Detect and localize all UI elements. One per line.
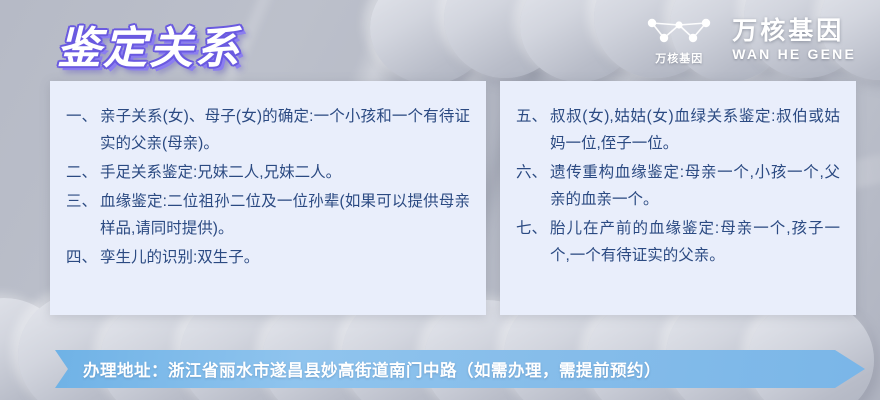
list-item: 六、 遗传重构血缘鉴定:母亲一个,小孩一个,父亲的血亲一个。 — [516, 159, 840, 213]
brand-mark: 万核基因 — [644, 14, 714, 66]
list-item-text: 胎儿在产前的血缘鉴定:母亲一个,孩子一个,一个有待证实的父亲。 — [550, 215, 840, 269]
list-item-text: 孪生儿的识别:双生子。 — [100, 244, 470, 271]
list-item-text: 叔叔(女),姑姑(女)血绿关系鉴定:叔伯或姑妈一位,侄子一位。 — [550, 103, 840, 157]
brand-wordmark: 万核基因 WAN HE GENE — [732, 18, 856, 61]
list-item-number: 六、 — [516, 159, 550, 186]
list-item-number: 一、 — [66, 103, 100, 130]
molecule-network-icon — [644, 14, 714, 48]
brand-mark-label: 万核基因 — [655, 50, 703, 66]
list-item: 一、 亲子关系(女)、母子(女)的确定:一个小孩和一个有待证实的父亲(母亲)。 — [66, 103, 470, 157]
list-item: 五、 叔叔(女),姑姑(女)血绿关系鉴定:叔伯或姑妈一位,侄子一位。 — [516, 103, 840, 157]
list-item-number: 二、 — [66, 159, 100, 186]
list-item-text: 遗传重构血缘鉴定:母亲一个,小孩一个,父亲的血亲一个。 — [550, 159, 840, 213]
page-title: 鉴定关系 — [57, 12, 241, 76]
brand-name-cn: 万核基因 — [732, 18, 844, 44]
brand-logo: 万核基因 万核基因 WAN HE GENE — [644, 14, 856, 66]
list-item-text: 亲子关系(女)、母子(女)的确定:一个小孩和一个有待证实的父亲(母亲)。 — [100, 103, 470, 157]
list-item: 四、 孪生儿的识别:双生子。 — [66, 244, 470, 271]
list-item-number: 四、 — [66, 244, 100, 271]
info-panel-right: 五、 叔叔(女),姑姑(女)血绿关系鉴定:叔伯或姑妈一位,侄子一位。 六、 遗传… — [500, 81, 856, 315]
list-item-number: 七、 — [516, 215, 550, 242]
info-panel-left: 一、 亲子关系(女)、母子(女)的确定:一个小孩和一个有待证实的父亲(母亲)。 … — [50, 81, 486, 315]
list-item: 三、 血缘鉴定:二位祖孙二位及一位孙辈(如果可以提供母亲样品,请同时提供)。 — [66, 188, 470, 242]
address-banner: 办理地址：浙江省丽水市遂昌县妙高街道南门中路（如需办理，需提前预约） — [55, 350, 865, 388]
list-item-number: 五、 — [516, 103, 550, 130]
brand-name-en: WAN HE GENE — [732, 46, 856, 62]
list-item: 七、 胎儿在产前的血缘鉴定:母亲一个,孩子一个,一个有待证实的父亲。 — [516, 215, 840, 269]
poster-canvas: 鉴定关系 — [0, 0, 880, 400]
list-item: 二、 手足关系鉴定:兄妹二人,兄妹二人。 — [66, 159, 470, 186]
list-item-number: 三、 — [66, 188, 100, 215]
address-banner-text: 办理地址：浙江省丽水市遂昌县妙高街道南门中路（如需办理，需提前预约） — [55, 357, 661, 381]
list-item-text: 血缘鉴定:二位祖孙二位及一位孙辈(如果可以提供母亲样品,请同时提供)。 — [100, 188, 470, 242]
list-item-text: 手足关系鉴定:兄妹二人,兄妹二人。 — [100, 159, 470, 186]
